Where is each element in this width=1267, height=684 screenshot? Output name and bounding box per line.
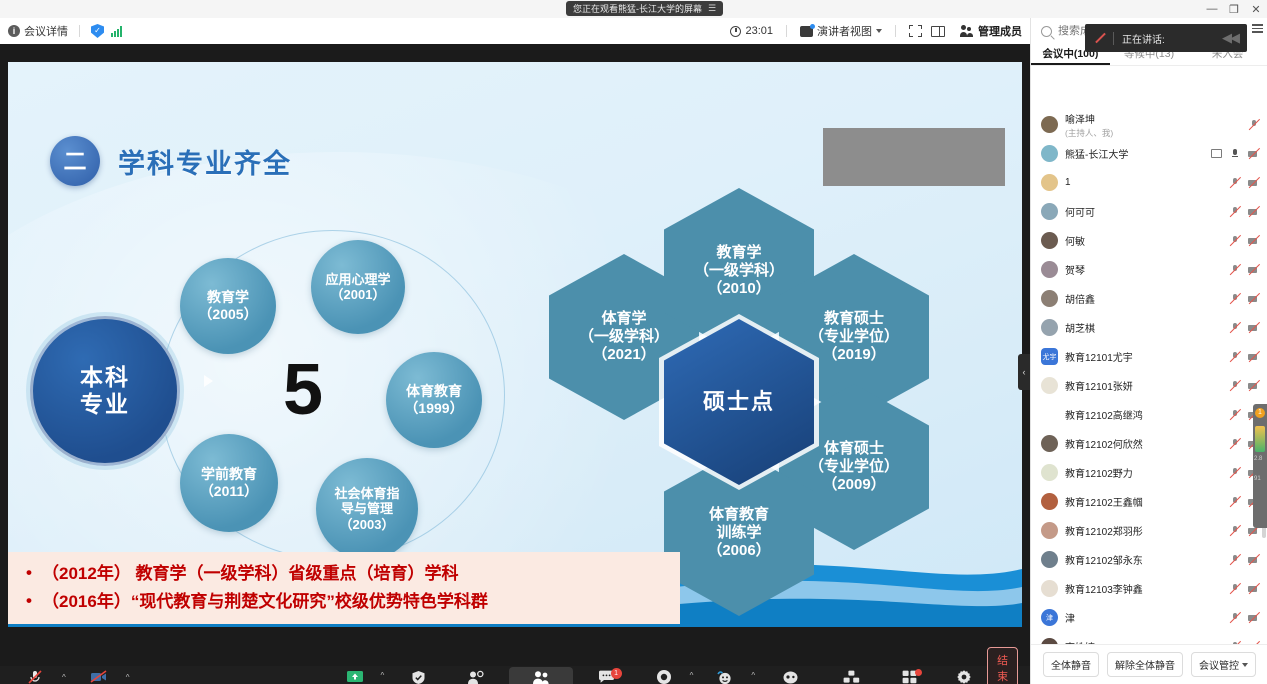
chevron-down-icon — [876, 29, 882, 33]
meeting-details-button[interactable]: i 会议详情 — [8, 23, 68, 39]
floating-widget-badge: 1 — [1255, 408, 1265, 418]
bubble-applied-psychology: 应用心理学 （2001） — [311, 240, 405, 334]
mic-muted-icon — [27, 669, 43, 684]
hex-center-label: 硕士点 — [703, 389, 775, 416]
mic-muted-icon[interactable] — [1229, 525, 1241, 537]
mic-muted-icon[interactable] — [1229, 177, 1241, 189]
avatar: 尤宇 — [1041, 348, 1058, 365]
bubble-physical-education: 体育教育 （1999） — [386, 352, 482, 448]
toolbar-ai-assistant-button[interactable]: AI小助手 — [764, 669, 816, 684]
toolbar-settings-button[interactable]: 设置 — [941, 669, 987, 684]
participant-name: 教育12102邹永东 — [1065, 552, 1143, 567]
toolbar-divider-3 — [895, 25, 896, 37]
security-shield-icon — [411, 669, 426, 684]
toolbar-unmute-button[interactable]: 解除静音 — [12, 669, 58, 684]
avatar — [1041, 522, 1058, 539]
avatar — [1041, 145, 1058, 162]
toolbar-invite-button[interactable]: 邀请 — [452, 669, 498, 684]
participant-name: 教育12102何欣然 — [1065, 436, 1143, 451]
participant-name: 教育12102郑羽彤 — [1065, 523, 1143, 538]
camera-off-icon[interactable] — [1248, 554, 1260, 566]
hex-sport-science-l1: 体育学 — [601, 310, 646, 328]
mic-muted-icon[interactable] — [1229, 322, 1241, 334]
play-triangle-icon — [204, 375, 213, 387]
app-menu-icon[interactable] — [1252, 24, 1263, 33]
video-thumbnail-placeholder — [823, 128, 1005, 186]
participant-name: 何敏 — [1065, 233, 1085, 248]
banner-line-2: （2016年）“现代教育与荆楚文化研究”校级优势特色学科群 — [22, 588, 488, 616]
toolbar-divider — [79, 25, 80, 37]
toolbar-share-screen-button[interactable]: 共享屏幕 — [332, 669, 378, 684]
mic-muted-icon[interactable] — [1229, 235, 1241, 247]
mic-muted-icon[interactable] — [1229, 467, 1241, 479]
camera-off-icon[interactable] — [1248, 612, 1260, 624]
meeting-window: i 会议详情 23:01 演讲者视图 管理成员 — [0, 18, 1030, 684]
mic-muted-icon[interactable] — [1229, 264, 1241, 276]
security-shield-icon[interactable] — [91, 24, 104, 38]
record-icon — [656, 669, 672, 684]
avatar: 津 — [1041, 609, 1058, 626]
list-item[interactable]: 贺琴 — [1031, 255, 1267, 284]
hex-master-education-l2: （专业学位） — [809, 328, 899, 346]
bubble-social-sports-line1: 社会体育指 — [334, 486, 399, 501]
floating-widget[interactable]: 1 2.8 91 — [1253, 404, 1267, 528]
hex-master-sport-l3: （2009） — [822, 476, 885, 494]
list-item[interactable]: 1 — [1031, 168, 1267, 197]
avatar — [1041, 290, 1058, 307]
camera-options-chevron-icon[interactable]: ^ — [126, 673, 130, 682]
chevron-down-icon — [1242, 663, 1248, 667]
toast-divider — [1113, 32, 1114, 45]
participant-name: 津 — [1065, 610, 1075, 625]
toolbar-breakout-rooms-button[interactable]: 分组讨论 — [825, 669, 877, 684]
toolbar-apps-button[interactable]: 应用 — [886, 669, 932, 684]
hex-sport-science-l3: （2021） — [592, 346, 655, 364]
maximize-button[interactable]: ❐ — [1223, 0, 1245, 18]
list-item[interactable]: 何可可 — [1031, 197, 1267, 226]
collapse-panel-arrow-icon[interactable]: ‹ — [1018, 354, 1030, 390]
speaking-toast: 正在讲话: ◀◀ — [1085, 24, 1247, 52]
meeting-bottom-toolbar: 解除静音 ^ 开启视频 ^ 共享屏幕 ^ — [0, 666, 1030, 684]
hex-master-sport-l2: （专业学位） — [809, 458, 899, 476]
avatar — [1041, 551, 1058, 568]
hex-master-education-l1: 教育硕士 — [824, 310, 884, 328]
drag-handle-icon[interactable]: ☰ — [708, 3, 716, 14]
floating-widget-meter — [1255, 426, 1265, 452]
speaking-toast-label: 正在讲话: — [1122, 31, 1165, 46]
shared-screen-stage: 二 学科专业齐全 本科 专业 5 教育学 （2005） 应用心理学 （2001） — [0, 44, 1030, 666]
bubble-preschool-education: 学前教育 （2011） — [180, 434, 278, 532]
clock-icon — [730, 26, 741, 37]
list-item[interactable]: 胡倍鑫 — [1031, 284, 1267, 313]
list-item[interactable]: 教育12102邹永东 — [1031, 545, 1267, 574]
floating-widget-line2: 91 — [1254, 476, 1261, 482]
network-signal-icon[interactable] — [111, 26, 122, 37]
mic-muted-icon[interactable] — [1229, 409, 1241, 421]
bubble-applied-psychology-year: （2001） — [331, 287, 386, 302]
participant-name: 教育12102野力 — [1065, 465, 1133, 480]
bubble-education-name: 教育学 — [207, 289, 249, 306]
avatar — [1041, 493, 1058, 510]
share-notice-text: 您正在观看熊猛-长江大学的屏幕 — [573, 2, 702, 15]
camera-off-icon[interactable] — [1248, 351, 1260, 363]
camera-off-icon — [90, 669, 108, 684]
manage-members-top-button[interactable]: 管理成员 — [960, 23, 1022, 39]
manage-members-top-label: 管理成员 — [978, 23, 1022, 39]
floating-widget-line1: 2.8 — [1254, 456, 1262, 462]
mic-muted-icon[interactable] — [1229, 583, 1241, 595]
screen-share-notice: 您正在观看熊猛-长江大学的屏幕 ☰ — [566, 1, 723, 16]
manage-members-icon — [960, 25, 974, 37]
participant-name: 1 — [1065, 177, 1071, 188]
bubble-social-sports-year: （2003） — [340, 517, 395, 532]
bubble-main-line2: 专业 — [80, 391, 130, 418]
list-item[interactable]: 尤宇 教育12101尤宇 — [1031, 342, 1267, 371]
list-item[interactable]: 教育12102野力 — [1031, 458, 1267, 487]
avatar — [1041, 261, 1058, 278]
mic-options-chevron-icon[interactable]: ^ — [62, 673, 66, 682]
bubble-social-sports: 社会体育指 导与管理 （2003） — [316, 458, 418, 560]
mic-muted-icon[interactable] — [1248, 119, 1260, 131]
bubble-physical-education-year: （1999） — [404, 400, 463, 417]
bubble-education-year: （2005） — [198, 306, 257, 323]
toolbar-reaction-button[interactable]: 回应 — [702, 669, 748, 684]
avatar — [1041, 464, 1058, 481]
hex-master-education-l3: （2019） — [822, 346, 885, 364]
hex-sport-training-l2: 训练学 — [716, 524, 761, 542]
list-item[interactable]: 教育12102高继鸿 — [1031, 400, 1267, 429]
meeting-topbar: i 会议详情 23:01 演讲者视图 管理成员 — [0, 18, 1030, 44]
reaction-icon — [716, 669, 734, 684]
slide-banner: （2012年） 教育学（一级学科）省级重点（培育）学科 （2016年）“现代教育… — [8, 552, 680, 624]
mic-muted-icon[interactable] — [1229, 496, 1241, 508]
bubble-social-sports-line2: 导与管理 — [341, 501, 393, 516]
info-icon: i — [8, 25, 20, 37]
list-item[interactable]: 喻泽坤 (主持人、我) — [1031, 110, 1267, 139]
avatar — [1041, 435, 1058, 452]
participants-panel: 会议中(100) 等候中(13) 未入会 喻泽坤 (主持人、我) 熊猛-长江大学 — [1030, 18, 1267, 684]
share-screen-icon — [346, 669, 364, 684]
view-mode-selector[interactable]: 演讲者视图 — [800, 23, 882, 39]
mic-muted-icon[interactable] — [1229, 206, 1241, 218]
participant-name: 熊猛-长江大学 — [1065, 146, 1128, 161]
avatar — [1041, 406, 1058, 423]
list-item[interactable]: 教育12102王鑫帼 — [1031, 487, 1267, 516]
view-mode-label: 演讲者视图 — [817, 23, 872, 39]
mic-muted-icon[interactable] — [1229, 554, 1241, 566]
participant-role: (主持人、我) — [1065, 127, 1113, 139]
section-number-badge: 二 — [50, 136, 100, 186]
bubble-main-line1: 本科 — [80, 364, 130, 391]
mic-muted-icon[interactable] — [1229, 293, 1241, 305]
bubble-preschool-education-name: 学前教育 — [201, 466, 257, 483]
close-button[interactable]: ✕ — [1245, 0, 1267, 18]
meeting-details-label: 会议详情 — [24, 23, 68, 39]
camera-off-icon[interactable] — [1248, 293, 1260, 305]
toolbar-record-button[interactable]: 录制 — [641, 669, 687, 684]
camera-off-icon[interactable] — [1248, 235, 1260, 247]
mic-muted-icon[interactable] — [1229, 438, 1241, 450]
participant-name: 教育12101尤宇 — [1065, 349, 1133, 364]
fullscreen-icon[interactable] — [909, 25, 922, 37]
list-item[interactable]: 教育12102郑羽彤 — [1031, 516, 1267, 545]
toolbar-start-video-button[interactable]: 开启视频 — [76, 669, 122, 684]
meeting-timer-value: 23:01 — [745, 25, 773, 37]
slide-big-number: 5 — [283, 354, 323, 426]
bubble-applied-psychology-name: 应用心理学 — [325, 272, 390, 287]
bubble-physical-education-name: 体育教育 — [406, 383, 462, 400]
camera-off-icon[interactable] — [1248, 148, 1260, 160]
avatar — [1041, 580, 1058, 597]
slide-title: 学科专业齐全 — [118, 142, 292, 181]
toolbar-chat-button[interactable]: 1 聊天 — [584, 669, 630, 684]
invite-icon — [467, 669, 484, 684]
list-item[interactable]: 津 津 — [1031, 603, 1267, 632]
slide-header: 二 学科专业齐全 — [50, 136, 292, 186]
section-number: 二 — [64, 150, 87, 173]
participant-name: 胡芝棋 — [1065, 320, 1095, 335]
speaker-view-icon — [800, 26, 813, 37]
banner-line-1: （2012年） 教育学（一级学科）省级重点（培育）学科 — [22, 560, 488, 588]
hex-sport-training-l3: （2006） — [707, 542, 770, 560]
camera-off-icon[interactable] — [1248, 380, 1260, 392]
camera-off-icon[interactable] — [1248, 177, 1260, 189]
list-item[interactable]: 胡芝棋 — [1031, 313, 1267, 342]
avatar — [1041, 203, 1058, 220]
participant-name: 教育12103李钟鑫 — [1065, 581, 1143, 596]
participant-name: 何可可 — [1065, 204, 1095, 219]
hex-sport-science-l2: （一级学科） — [579, 328, 669, 346]
share-options-chevron-icon[interactable]: ^ — [381, 671, 385, 680]
participant-name: 贺琴 — [1065, 262, 1085, 277]
participant-name: 胡倍鑫 — [1065, 291, 1095, 306]
bubble-main-undergrad: 本科 专业 — [30, 316, 180, 466]
mute-all-button[interactable]: 全体静音 — [1043, 652, 1099, 677]
list-item[interactable]: 教育12101张妍 — [1031, 371, 1267, 400]
participants-list[interactable]: 喻泽坤 (主持人、我) 熊猛-长江大学 1 何可可 — [1031, 110, 1267, 662]
hex-education-science-l3: （2010） — [707, 280, 770, 298]
hex-sport-training-l1: 体育教育 — [709, 506, 769, 524]
toolbar-security-button[interactable]: 安全 — [395, 669, 441, 684]
meeting-timer: 23:01 — [730, 25, 773, 37]
bubble-preschool-education-year: （2011） — [200, 483, 258, 500]
bubble-education: 教育学 （2005） — [180, 258, 276, 354]
end-meeting-button[interactable]: 结束会议 — [987, 647, 1018, 684]
avatar — [1041, 232, 1058, 249]
search-icon — [1041, 26, 1052, 37]
avatar — [1041, 319, 1058, 336]
camera-off-icon[interactable] — [1248, 264, 1260, 276]
camera-off-icon[interactable] — [1248, 583, 1260, 595]
avatar — [1041, 174, 1058, 191]
ai-assistant-icon — [782, 669, 799, 684]
manage-members-icon — [532, 669, 550, 684]
mic-muted-icon[interactable] — [1229, 612, 1241, 624]
pencil-muted-icon — [1094, 33, 1105, 44]
toolbar-manage-members-button[interactable]: 管理成员(99+) — [509, 667, 572, 684]
minimize-button[interactable]: — — [1201, 0, 1223, 18]
chat-unread-badge: 1 — [611, 668, 622, 679]
participant-name: 教育12102王鑫帼 — [1065, 494, 1143, 509]
meeting-control-button[interactable]: 会议管控 — [1191, 652, 1256, 677]
camera-off-icon[interactable] — [1248, 322, 1260, 334]
apps-notification-dot — [915, 669, 922, 676]
hex-education-science-l2: （一级学科） — [694, 262, 784, 280]
breakout-rooms-icon — [843, 669, 860, 684]
toolbar-divider-2 — [786, 25, 787, 37]
split-view-icon[interactable] — [931, 26, 945, 37]
list-item[interactable]: 教育12103李钟鑫 — [1031, 574, 1267, 603]
avatar — [1041, 116, 1058, 133]
list-item[interactable]: 教育12102何欣然 — [1031, 429, 1267, 458]
mic-on-icon[interactable] — [1229, 148, 1241, 160]
hex-education-science-l1: 教育学 — [716, 244, 761, 262]
participant-name: 喻泽坤 — [1065, 111, 1113, 126]
hex-master-sport-l1: 体育硕士 — [824, 440, 884, 458]
record-options-chevron-icon[interactable]: ^ — [690, 671, 694, 680]
participants-footer: 全体静音 解除全体静音 会议管控 — [1031, 644, 1267, 684]
meeting-control-label: 会议管控 — [1199, 657, 1239, 672]
unmute-all-button[interactable]: 解除全体静音 — [1107, 652, 1183, 677]
presentation-slide: 二 学科专业齐全 本科 专业 5 教育学 （2005） 应用心理学 （2001） — [8, 62, 1022, 627]
list-item[interactable]: 何敏 — [1031, 226, 1267, 255]
settings-gear-icon — [956, 669, 972, 684]
screen-share-icon — [1211, 149, 1222, 158]
camera-off-icon[interactable] — [1248, 206, 1260, 218]
participant-name: 教育12101张妍 — [1065, 378, 1133, 393]
reaction-options-chevron-icon[interactable]: ^ — [751, 671, 755, 680]
avatar — [1041, 377, 1058, 394]
list-item[interactable]: 熊猛-长江大学 — [1031, 139, 1267, 168]
mic-muted-icon[interactable] — [1229, 351, 1241, 363]
participant-name: 教育12102高继鸿 — [1065, 407, 1143, 422]
audio-waveform-icon: ◀◀ — [1222, 30, 1238, 46]
mic-muted-icon[interactable] — [1229, 380, 1241, 392]
